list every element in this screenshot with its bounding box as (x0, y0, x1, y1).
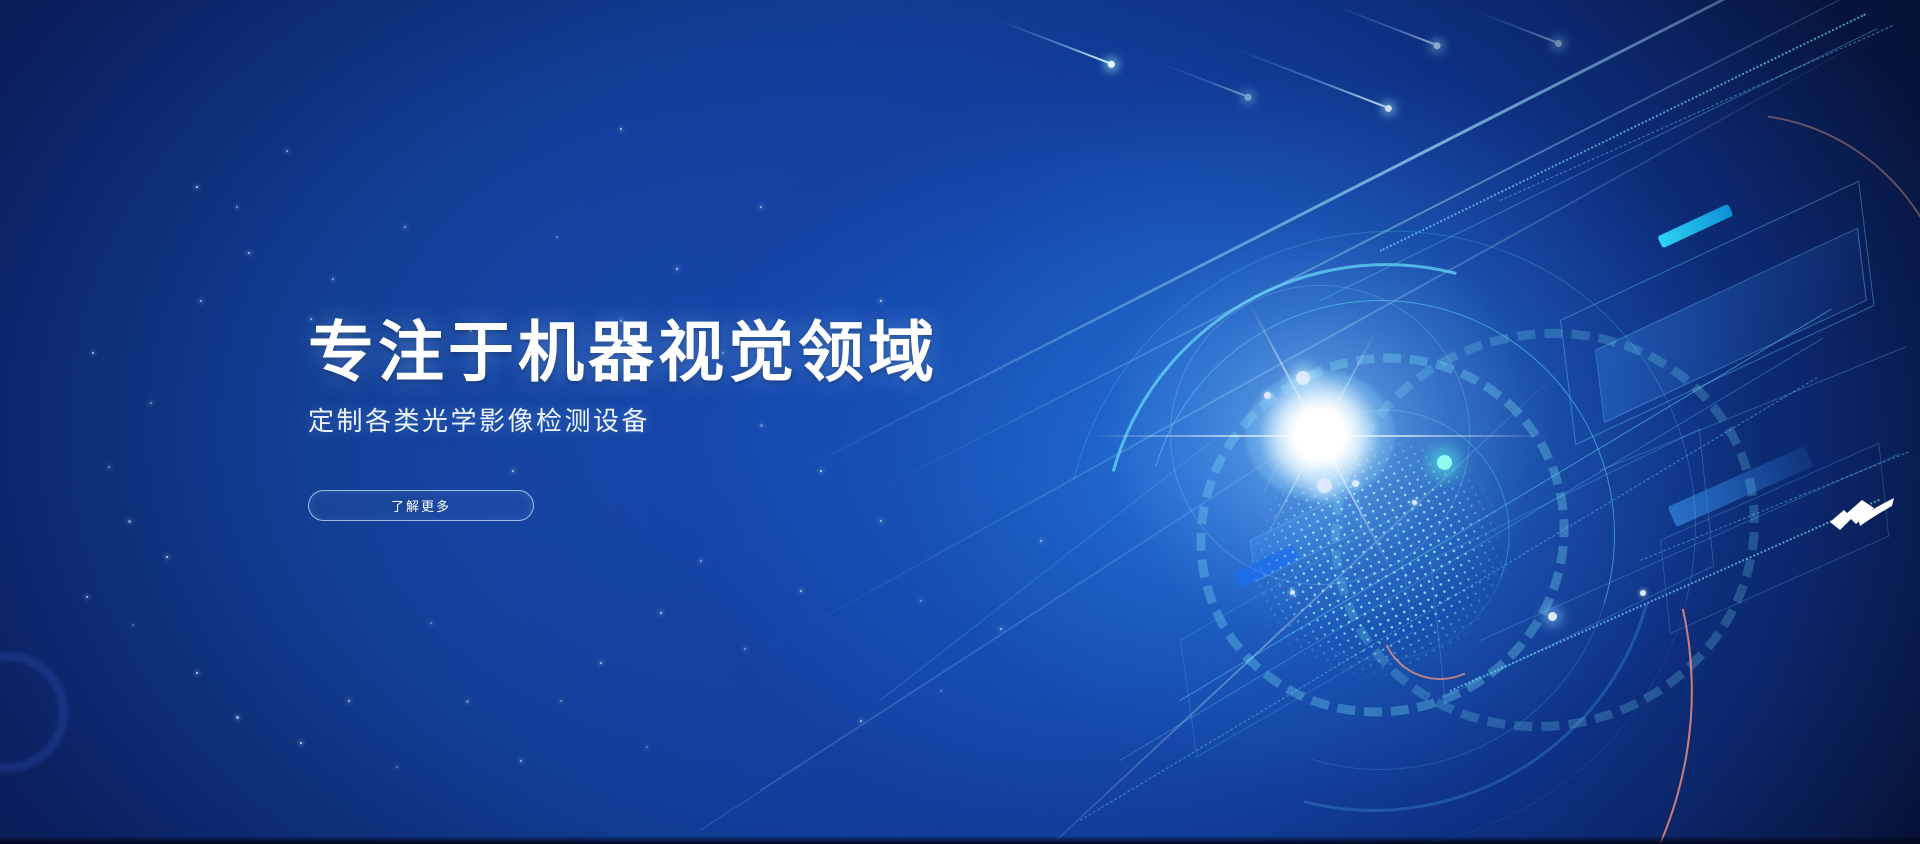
learn-more-button[interactable]: 了解更多 (308, 490, 534, 521)
edge-lens-ring (0, 652, 68, 772)
page-title: 专注于机器视觉领域 (308, 318, 1068, 387)
hero-content: 专注于机器视觉领域 定制各类光学影像检测设备 了解更多 (308, 318, 1068, 521)
bottom-band (0, 837, 1920, 844)
brand-chevron-icon (1822, 492, 1898, 536)
hero-banner: 专注于机器视觉领域 定制各类光学影像检测设备 了解更多 (0, 0, 1920, 844)
page-subtitle: 定制各类光学影像检测设备 (308, 401, 1068, 438)
